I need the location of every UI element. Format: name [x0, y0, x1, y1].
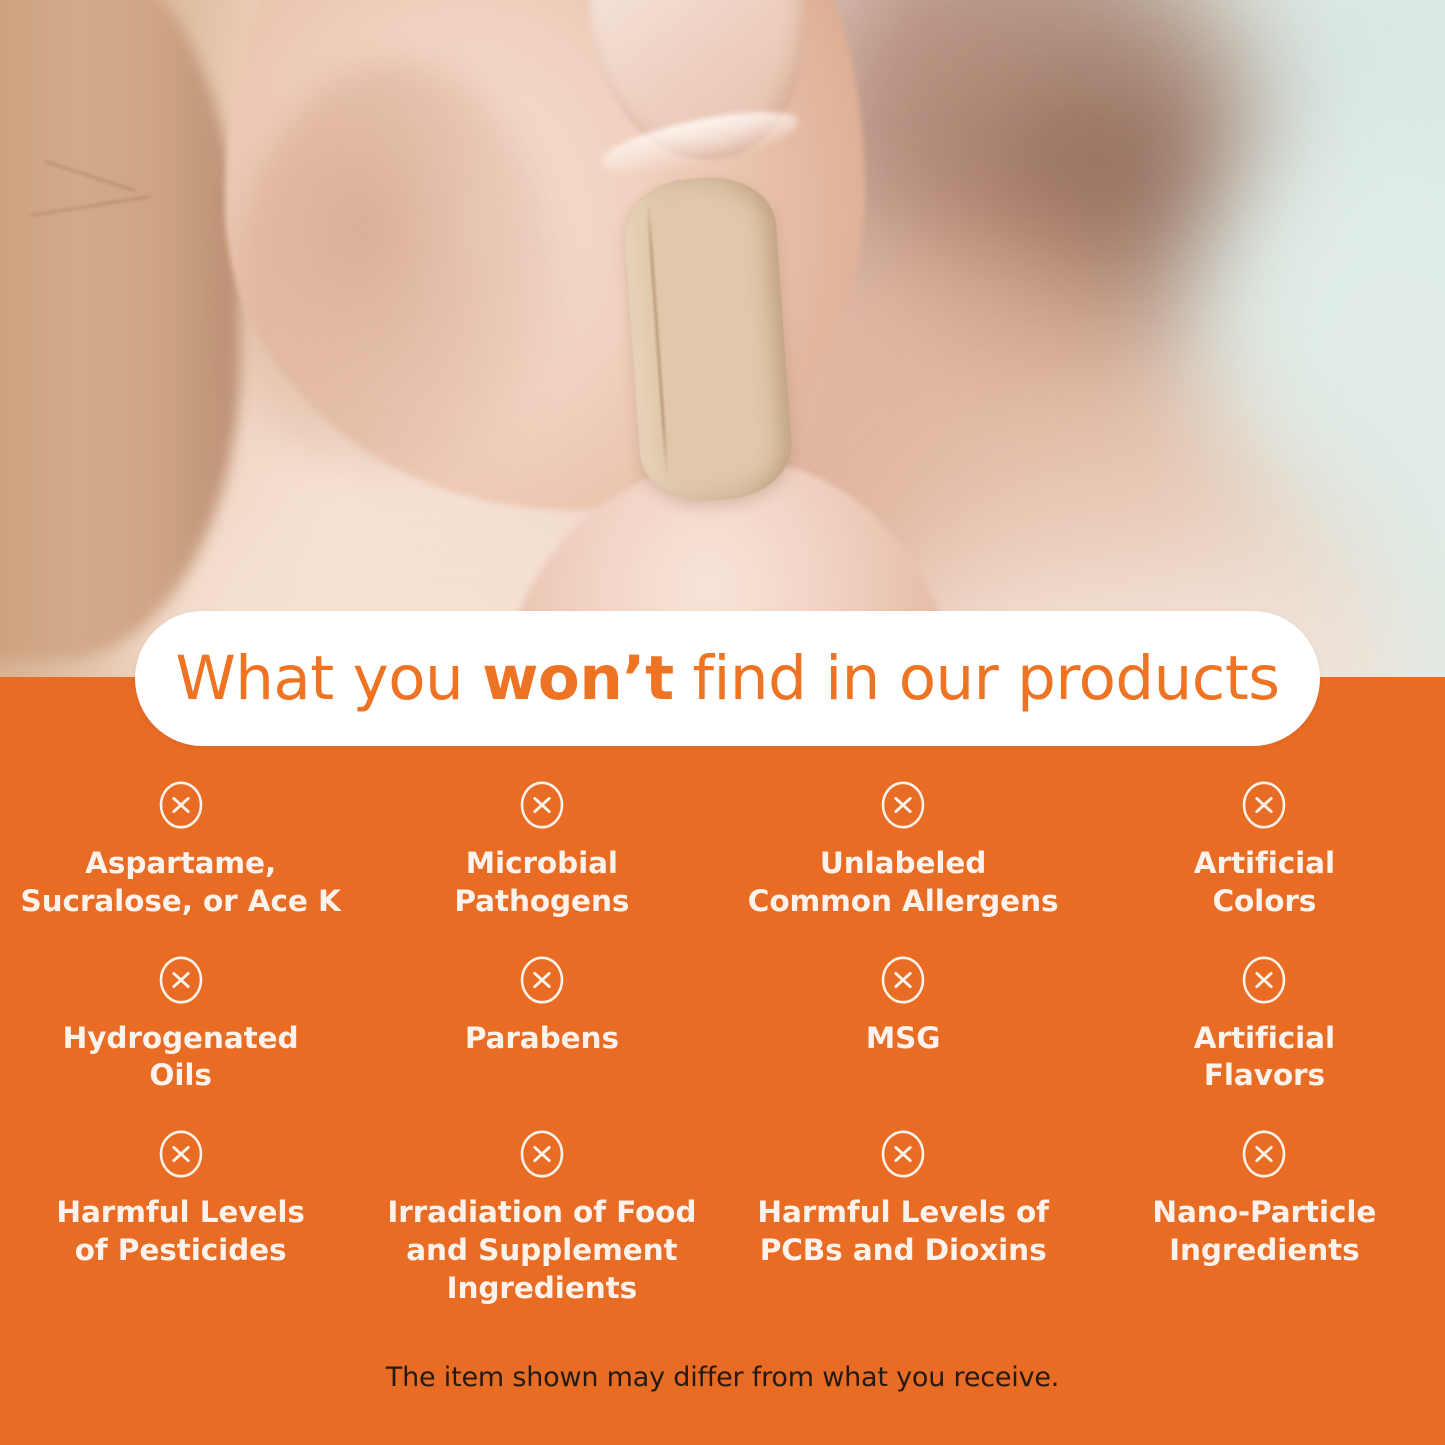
- circle-x-icon: [880, 1129, 926, 1179]
- disclaimer-text: The item shown may differ from what you …: [386, 1362, 1059, 1393]
- exclusion-item: Artificial Colors: [1084, 780, 1445, 921]
- exclusion-item: Artificial Flavors: [1084, 955, 1445, 1096]
- page-title-part1: What you: [175, 643, 482, 714]
- exclusion-item: Parabens: [361, 955, 722, 1096]
- exclusion-item: Nano-Particle Ingredients: [1084, 1129, 1445, 1307]
- exclusion-label: Harmful Levels of Pesticides: [56, 1194, 304, 1270]
- circle-x-icon: [1241, 780, 1287, 830]
- page-title-emphasis: won’t: [482, 643, 674, 714]
- circle-x-icon: [519, 1129, 565, 1179]
- exclusion-label: Artificial Colors: [1194, 845, 1335, 921]
- exclusion-label: MSG: [866, 1020, 941, 1058]
- exclusion-label: Harmful Levels of PCBs and Dioxins: [757, 1194, 1049, 1270]
- exclusion-label: Artificial Flavors: [1194, 1020, 1335, 1096]
- exclusions-grid: Aspartame, Sucralose, or Ace KMicrobial …: [0, 780, 1445, 1307]
- circle-x-icon: [880, 780, 926, 830]
- hero-photo: [0, 0, 1445, 680]
- circle-x-icon: [1241, 955, 1287, 1005]
- circle-x-icon: [158, 955, 204, 1005]
- exclusion-item: Harmful Levels of PCBs and Dioxins: [723, 1129, 1084, 1307]
- exclusion-label: Microbial Pathogens: [454, 845, 629, 921]
- product-infographic-page: What you won’t find in our products Aspa…: [0, 0, 1445, 1445]
- exclusion-label: Hydrogenated Oils: [63, 1020, 299, 1096]
- exclusion-item: Unlabeled Common Allergens: [723, 780, 1084, 921]
- exclusion-item: Harmful Levels of Pesticides: [0, 1129, 361, 1307]
- exclusion-label: Nano-Particle Ingredients: [1152, 1194, 1376, 1270]
- circle-x-icon: [880, 955, 926, 1005]
- page-title-part2: find in our products: [674, 643, 1280, 714]
- circle-x-icon: [158, 1129, 204, 1179]
- exclusion-label: Irradiation of Food and Supplement Ingre…: [387, 1194, 696, 1307]
- circle-x-icon: [519, 955, 565, 1005]
- exclusion-item: Irradiation of Food and Supplement Ingre…: [361, 1129, 722, 1307]
- circle-x-icon: [1241, 1129, 1287, 1179]
- circle-x-icon: [158, 780, 204, 830]
- exclusion-item: MSG: [723, 955, 1084, 1096]
- exclusion-label: Aspartame, Sucralose, or Ace K: [20, 845, 340, 921]
- exclusion-item: Microbial Pathogens: [361, 780, 722, 921]
- footer: The item shown may differ from what you …: [0, 1362, 1445, 1393]
- exclusion-item: Hydrogenated Oils: [0, 955, 361, 1096]
- title-pill: What you won’t find in our products: [135, 611, 1320, 746]
- circle-x-icon: [519, 780, 565, 830]
- page-title: What you won’t find in our products: [175, 648, 1279, 709]
- exclusion-item: Aspartame, Sucralose, or Ace K: [0, 780, 361, 921]
- exclusion-label: Unlabeled Common Allergens: [748, 845, 1059, 921]
- exclusion-label: Parabens: [465, 1020, 619, 1058]
